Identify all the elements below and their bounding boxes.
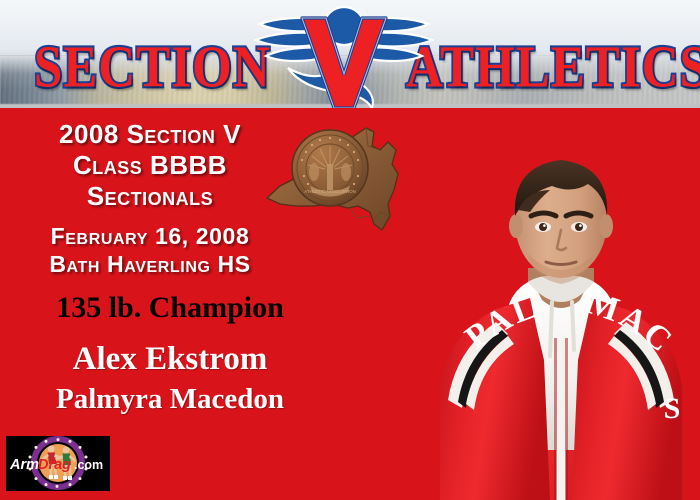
event-title-line-1: 2008 Section V: [0, 118, 300, 150]
armdrag-watermark[interactable]: Arm Drag .com: [6, 436, 110, 491]
event-venue: Bath Haverling HS: [0, 250, 300, 278]
event-date-block: February 16, 2008 Bath Haverling HS: [0, 222, 300, 278]
athlete-school: Palmyra Macedon: [0, 383, 340, 416]
event-title-line-3: Sectionals: [0, 181, 300, 212]
banner-word-athletics: ATHLETICS: [406, 32, 700, 100]
weight-class-title: 135 lb. Champion: [0, 291, 340, 325]
medal-seal-bottom-text: ATHLETIC ASSOCIATION: [304, 189, 356, 194]
armdrag-brand-drag: Drag: [38, 457, 71, 473]
banner-word-section: SECTION: [34, 32, 271, 100]
event-title-line-2: Class BBBB: [0, 150, 300, 181]
armdrag-logo-icon: Arm Drag .com: [6, 436, 110, 491]
athlete-name: Alex Ekstrom: [0, 341, 340, 378]
award-graphic: SECTION ATHLETICS: [0, 0, 700, 500]
event-date: February 16, 2008: [0, 222, 300, 250]
athlete-photo: PAL MAC S: [432, 150, 690, 500]
section-v-athletics-banner: SECTION ATHLETICS: [0, 0, 700, 112]
armdrag-brand-tld: .com: [74, 458, 103, 472]
armdrag-brand-arm: Arm: [9, 457, 39, 473]
winged-v-logo: [254, 2, 434, 112]
event-title-block: 2008 Section V Class BBBB Sectionals: [0, 118, 300, 212]
jersey-text-side: S: [664, 392, 681, 425]
